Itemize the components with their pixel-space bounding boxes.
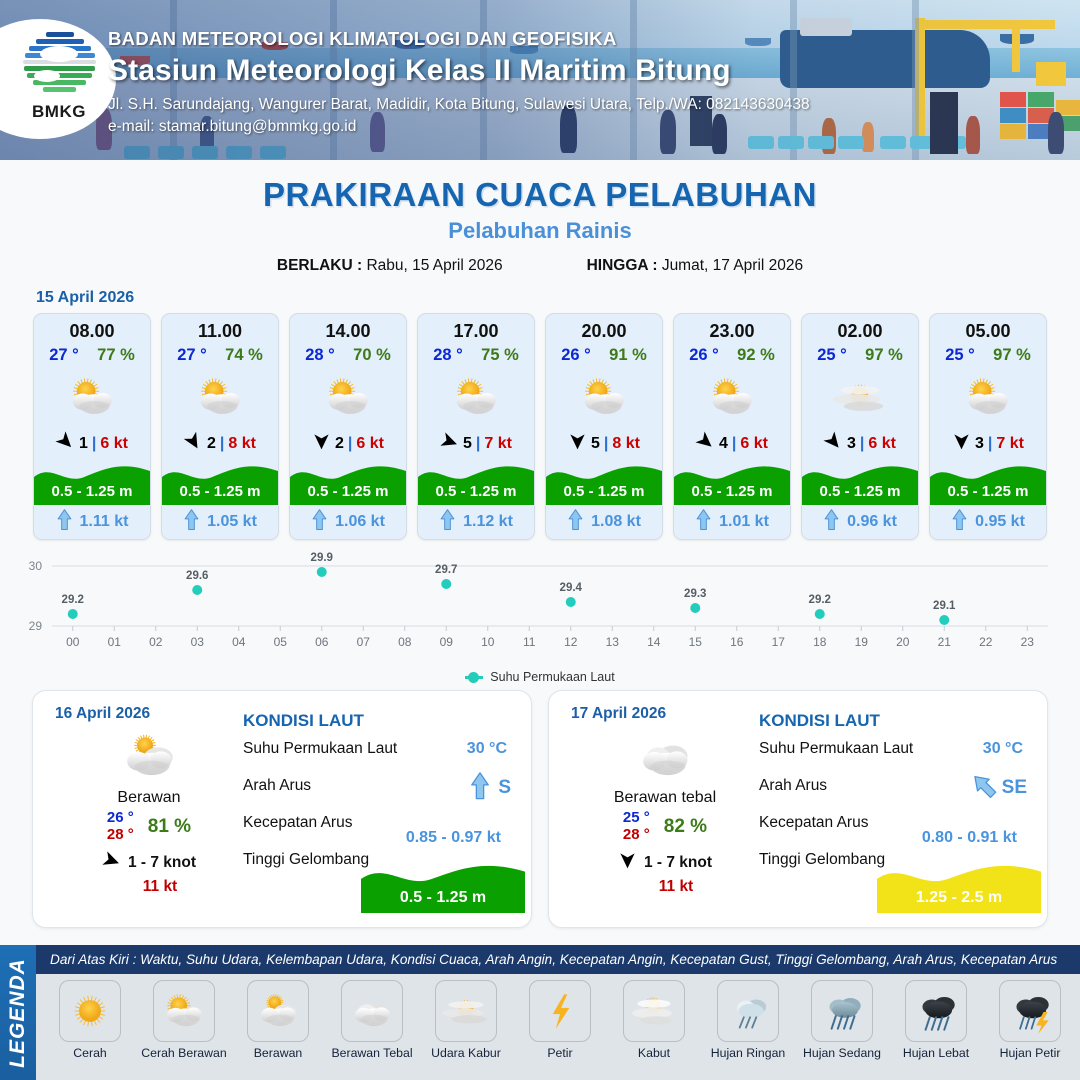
card-time: 02.00 — [802, 314, 918, 342]
card-time: 05.00 — [930, 314, 1046, 342]
sst-row: Suhu Permukaan Laut 30 °C — [759, 737, 1031, 774]
wave-height-value: 0.5 - 1.25 m — [34, 483, 150, 500]
card-temp-hum: 26 ° 91 % — [546, 342, 662, 365]
current-speed-value: 0.95 kt — [975, 513, 1025, 531]
wind-direction-value: 2 — [207, 435, 216, 453]
sst-value: 30 °C — [983, 740, 1023, 758]
weather-hujan-lebat-icon — [905, 980, 967, 1042]
card-humidity: 97 % — [993, 346, 1031, 365]
card-humidity: 77 % — [97, 346, 135, 365]
hourly-card: 23.00 26 ° 92 % 4 | — [673, 313, 791, 540]
day-gust: 11 kt — [571, 878, 759, 896]
weather-cerah-icon — [59, 980, 121, 1042]
wind-direction-value: 5 — [463, 435, 472, 453]
current-direction-value: S — [498, 777, 511, 799]
legend-item: Berawan Tebal — [326, 980, 418, 1060]
weather-cerah-berawan-icon — [674, 365, 790, 429]
sst-label: Suhu Permukaan Laut — [243, 740, 397, 758]
hourly-card: 20.00 26 ° 91 % 5 | — [545, 313, 663, 540]
bmkg-logo-icon — [20, 30, 98, 100]
current-speed-value: 0.85 - 0.97 kt — [406, 829, 501, 847]
card-wind: 2 | 8 kt — [162, 429, 278, 459]
day-wind-range: 1 - 7 knot — [644, 854, 712, 872]
svg-text:29.3: 29.3 — [684, 588, 706, 600]
svg-text:29.2: 29.2 — [809, 594, 831, 606]
agency-name: BADAN METEOROLOGI KLIMATOLOGI DAN GEOFIS… — [108, 28, 810, 50]
wave-height-value: 0.5 - 1.25 m — [418, 483, 534, 500]
svg-text:16: 16 — [730, 635, 744, 649]
wind-direction-arrow-icon — [102, 851, 121, 875]
weather-kabut-icon — [623, 980, 685, 1042]
legend-item: Hujan Lebat — [890, 980, 982, 1060]
card-wave: 0.5 - 1.25 m — [546, 459, 662, 505]
sst-label: Suhu Permukaan Laut — [759, 740, 913, 758]
current-direction-arrow-icon — [469, 772, 491, 805]
day-panel-right: KONDISI LAUT Suhu Permukaan Laut 30 °C A… — [243, 691, 531, 927]
day-wave-graphic: 1.25 - 2.5 m — [877, 857, 1041, 913]
svg-text:29.2: 29.2 — [62, 594, 84, 606]
day-panel-left: 17 April 2026 Berawan tebal 25 ° — [549, 691, 759, 927]
hourly-card: 11.00 27 ° 74 % 2 | — [161, 313, 279, 540]
weather-cerah-berawan-icon — [930, 365, 1046, 429]
card-humidity: 92 % — [737, 346, 775, 365]
current-direction-value-group: S — [469, 772, 511, 805]
card-current: 1.12 kt — [418, 505, 534, 539]
valid-from-value: Rabu, 15 April 2026 — [366, 257, 502, 274]
wind-direction-arrow-icon — [184, 432, 203, 456]
current-speed-value: 0.80 - 0.91 kt — [922, 829, 1017, 847]
card-current: 1.05 kt — [162, 505, 278, 539]
current-direction-arrow-icon — [823, 509, 840, 535]
wind-direction-value: 5 — [591, 435, 600, 453]
current-direction-value: SE — [1002, 777, 1027, 799]
wind-separator: | — [604, 435, 608, 453]
wave-height-value: 0.5 - 1.25 m — [674, 483, 790, 500]
svg-text:05: 05 — [274, 635, 288, 649]
valid-to-value: Jumat, 17 April 2026 — [662, 257, 803, 274]
wind-direction-arrow-icon — [440, 432, 459, 456]
current-speed-value: 1.12 kt — [463, 513, 513, 531]
svg-text:29.6: 29.6 — [186, 570, 208, 582]
legend-item-label: Petir — [514, 1046, 606, 1060]
current-speed-value: 1.06 kt — [335, 513, 385, 531]
svg-text:29.7: 29.7 — [435, 564, 457, 576]
weather-cerah-berawan-icon — [290, 365, 406, 429]
current-direction-arrow-icon — [311, 509, 328, 535]
card-temperature: 28 ° — [305, 346, 335, 365]
bmkg-logo: BMKG — [16, 30, 102, 126]
card-temp-hum: 25 ° 97 % — [802, 342, 918, 365]
weather-cerah-berawan-icon — [153, 980, 215, 1042]
weather-cerah-berawan-icon — [162, 365, 278, 429]
svg-text:19: 19 — [855, 635, 869, 649]
day-date: 17 April 2026 — [571, 705, 759, 723]
svg-text:21: 21 — [938, 635, 952, 649]
weather-cerah-berawan-icon — [546, 365, 662, 429]
valid-from: BERLAKU : Rabu, 15 April 2026 — [277, 257, 503, 275]
wind-separator: | — [860, 435, 864, 453]
legend-side-title-text: LEGENDA — [6, 958, 30, 1068]
svg-text:29.9: 29.9 — [311, 552, 333, 564]
header-text-block: BADAN METEOROLOGI KLIMATOLOGI DAN GEOFIS… — [108, 28, 810, 136]
day-humidity: 81 % — [148, 816, 191, 838]
day-forecast-panel: 17 April 2026 Berawan tebal 25 ° — [548, 690, 1048, 928]
current-direction-arrow-icon — [183, 509, 200, 535]
current-speed-label: Kecepatan Arus — [759, 814, 868, 832]
wind-direction-arrow-icon — [824, 432, 843, 456]
card-wave: 0.5 - 1.25 m — [418, 459, 534, 505]
legend-item: Hujan Ringan — [702, 980, 794, 1060]
wind-direction-value: 1 — [79, 435, 88, 453]
card-current: 0.95 kt — [930, 505, 1046, 539]
current-speed-value: 1.05 kt — [207, 513, 257, 531]
card-temp-hum: 26 ° 92 % — [674, 342, 790, 365]
card-wave: 0.5 - 1.25 m — [802, 459, 918, 505]
weather-hujan-ringan-icon — [717, 980, 779, 1042]
card-current: 0.96 kt — [802, 505, 918, 539]
hourly-forecast-cards: 08.00 27 ° 77 % 1 | — [0, 313, 1080, 540]
sea-conditions-title: KONDISI LAUT — [759, 711, 1031, 731]
station-email: e-mail: stamar.bitung@bmmkg.go.id — [108, 118, 810, 136]
card-temperature: 27 ° — [177, 346, 207, 365]
current-speed-value: 0.96 kt — [847, 513, 897, 531]
card-wind: 5 | 8 kt — [546, 429, 662, 459]
station-name: Stasiun Meteorologi Kelas II Maritim Bit… — [108, 54, 810, 88]
wind-speed-value: 6 kt — [100, 435, 128, 453]
svg-text:20: 20 — [896, 635, 910, 649]
current-direction-row: Arah Arus S — [243, 774, 515, 811]
chart-legend-line — [465, 676, 483, 679]
svg-text:09: 09 — [440, 635, 454, 649]
legend-item-label: Cerah Berawan — [138, 1046, 230, 1060]
wind-speed-value: 6 kt — [868, 435, 896, 453]
legend-item-label: Hujan Petir — [984, 1046, 1076, 1060]
card-wind: 2 | 6 kt — [290, 429, 406, 459]
card-temp-hum: 27 ° 74 % — [162, 342, 278, 365]
legend-item-label: Berawan — [232, 1046, 324, 1060]
current-speed-row: Kecepatan Arus 0.85 - 0.97 kt — [243, 811, 515, 848]
day-panel-left: 16 April 2026 Berawan 26 ° — [33, 691, 243, 927]
day-condition: Berawan tebal — [571, 789, 759, 807]
valid-to: HINGGA : Jumat, 17 April 2026 — [587, 257, 804, 275]
wind-separator: | — [476, 435, 480, 453]
day-temp-min: 26 ° — [107, 810, 134, 827]
day-wave-graphic: 0.5 - 1.25 m — [361, 857, 525, 913]
hourly-card: 14.00 28 ° 70 % 2 | — [289, 313, 407, 540]
wind-direction-arrow-icon — [618, 851, 637, 875]
sst-chart-svg: 2930000102030405060708091011121314151617… — [0, 548, 1080, 660]
card-wind: 1 | 6 kt — [34, 429, 150, 459]
legend-item-label: Udara Kabur — [420, 1046, 512, 1060]
card-temperature: 28 ° — [433, 346, 463, 365]
legend-item-label: Berawan Tebal — [326, 1046, 418, 1060]
card-time: 17.00 — [418, 314, 534, 342]
day-humidity: 82 % — [664, 816, 707, 838]
current-direction-arrow-icon — [951, 509, 968, 535]
current-speed-value: 1.01 kt — [719, 513, 769, 531]
hourly-card: 05.00 25 ° 97 % 3 | — [929, 313, 1047, 540]
svg-text:08: 08 — [398, 635, 412, 649]
card-wind: 3 | 7 kt — [930, 429, 1046, 459]
wind-direction-value: 3 — [975, 435, 984, 453]
weather-cerah-berawan-icon — [418, 365, 534, 429]
card-current: 1.01 kt — [674, 505, 790, 539]
svg-text:14: 14 — [647, 635, 661, 649]
day-temperatures: 25 ° 28 ° 82 % — [571, 810, 759, 844]
wave-height-value: 0.5 - 1.25 m — [290, 483, 406, 500]
wave-height-value: 0.5 - 1.25 m — [162, 483, 278, 500]
weather-berawan-tebal-icon — [341, 980, 403, 1042]
current-direction-label: Arah Arus — [243, 777, 311, 795]
legend-item-label: Hujan Ringan — [702, 1046, 794, 1060]
wind-separator: | — [988, 435, 992, 453]
current-speed-value: 1.08 kt — [591, 513, 641, 531]
wind-separator: | — [220, 435, 224, 453]
current-speed-row: Kecepatan Arus 0.80 - 0.91 kt — [759, 811, 1031, 848]
card-time: 08.00 — [34, 314, 150, 342]
svg-text:17: 17 — [772, 635, 786, 649]
day-wind: 1 - 7 knot — [571, 851, 759, 875]
legend-side-title: LEGENDA — [0, 945, 36, 1080]
wind-separator: | — [92, 435, 96, 453]
day-condition: Berawan — [55, 789, 243, 807]
hourly-card: 08.00 27 ° 77 % 1 | — [33, 313, 151, 540]
svg-text:13: 13 — [606, 635, 620, 649]
legend-item-label: Hujan Lebat — [890, 1046, 982, 1060]
sst-chart: 2930000102030405060708091011121314151617… — [0, 548, 1080, 676]
page-title: PRAKIRAAN CUACA PELABUHAN — [0, 176, 1080, 214]
legend-item-label: Hujan Sedang — [796, 1046, 888, 1060]
day-temp-min: 25 ° — [623, 810, 650, 827]
svg-text:15: 15 — [689, 635, 703, 649]
weather-berawan-icon — [55, 725, 243, 787]
svg-text:30: 30 — [29, 559, 43, 573]
svg-text:12: 12 — [564, 635, 578, 649]
legend-bar: LEGENDA Dari Atas Kiri : Waktu, Suhu Uda… — [0, 945, 1080, 1080]
card-temperature: 27 ° — [49, 346, 79, 365]
legend-icon-list: Cerah Cerah Berawan — [36, 974, 1080, 1060]
current-direction-value-group: SE — [973, 772, 1027, 805]
wave-height-value: 0.5 - 1.25 m — [802, 483, 918, 500]
station-address: Jl. S.H. Sarundajang, Wangurer Barat, Ma… — [108, 96, 810, 114]
legend-item: Cerah — [44, 980, 136, 1060]
card-wave: 0.5 - 1.25 m — [674, 459, 790, 505]
day-forecast-panel: 16 April 2026 Berawan 26 ° — [32, 690, 532, 928]
card-temp-hum: 25 ° 97 % — [930, 342, 1046, 365]
hourly-card: 02.00 25 ° 97 % 3 | — [801, 313, 919, 540]
wind-speed-value: 7 kt — [484, 435, 512, 453]
validity-row: BERLAKU : Rabu, 15 April 2026 HINGGA : J… — [0, 257, 1080, 275]
card-temperature: 26 ° — [689, 346, 719, 365]
card-wind: 4 | 6 kt — [674, 429, 790, 459]
card-wave: 0.5 - 1.25 m — [290, 459, 406, 505]
wind-speed-value: 8 kt — [228, 435, 256, 453]
card-wave: 0.5 - 1.25 m — [930, 459, 1046, 505]
wind-direction-value: 3 — [847, 435, 856, 453]
sst-row: Suhu Permukaan Laut 30 °C — [243, 737, 515, 774]
svg-text:29.1: 29.1 — [933, 600, 956, 612]
wind-direction-value: 4 — [719, 435, 728, 453]
current-speed-label: Kecepatan Arus — [243, 814, 352, 832]
wind-separator: | — [348, 435, 352, 453]
hourly-date-label: 15 April 2026 — [36, 289, 1080, 307]
svg-text:29: 29 — [29, 619, 43, 633]
svg-text:22: 22 — [979, 635, 993, 649]
svg-text:23: 23 — [1021, 635, 1035, 649]
hourly-card: 17.00 28 ° 75 % 5 | — [417, 313, 535, 540]
card-humidity: 91 % — [609, 346, 647, 365]
day-gust: 11 kt — [55, 878, 243, 896]
bmkg-logo-text: BMKG — [16, 102, 102, 122]
day-wind: 1 - 7 knot — [55, 851, 243, 875]
card-temperature: 25 ° — [817, 346, 847, 365]
current-direction-arrow-icon — [567, 509, 584, 535]
card-wind: 3 | 6 kt — [802, 429, 918, 459]
wind-direction-arrow-icon — [952, 432, 971, 456]
wind-separator: | — [732, 435, 736, 453]
card-temp-hum: 27 ° 77 % — [34, 342, 150, 365]
weather-berawan-icon — [247, 980, 309, 1042]
wind-direction-arrow-icon — [568, 432, 587, 456]
legend-item: Cerah Berawan — [138, 980, 230, 1060]
card-current: 1.06 kt — [290, 505, 406, 539]
card-humidity: 70 % — [353, 346, 391, 365]
wind-direction-arrow-icon — [56, 432, 75, 456]
card-wind: 5 | 7 kt — [418, 429, 534, 459]
card-time: 20.00 — [546, 314, 662, 342]
weather-udara-kabur-icon — [435, 980, 497, 1042]
wave-height-value: 0.5 - 1.25 m — [930, 483, 1046, 500]
svg-text:29.4: 29.4 — [560, 582, 583, 594]
card-time: 23.00 — [674, 314, 790, 342]
wind-speed-value: 6 kt — [740, 435, 768, 453]
legend-item: Kabut — [608, 980, 700, 1060]
legend-item: Hujan Petir — [984, 980, 1076, 1060]
legend-item: Petir — [514, 980, 606, 1060]
current-direction-arrow-icon — [695, 509, 712, 535]
svg-text:06: 06 — [315, 635, 329, 649]
card-humidity: 74 % — [225, 346, 263, 365]
wind-direction-value: 2 — [335, 435, 344, 453]
svg-text:04: 04 — [232, 635, 246, 649]
day-wave-value: 0.5 - 1.25 m — [361, 889, 525, 907]
wind-direction-arrow-icon — [696, 432, 715, 456]
card-temp-hum: 28 ° 70 % — [290, 342, 406, 365]
svg-text:07: 07 — [357, 635, 371, 649]
wave-height-value: 0.5 - 1.25 m — [546, 483, 662, 500]
svg-text:10: 10 — [481, 635, 495, 649]
card-humidity: 75 % — [481, 346, 519, 365]
sst-value: 30 °C — [467, 740, 507, 758]
current-direction-arrow-icon — [973, 772, 995, 805]
current-direction-arrow-icon — [439, 509, 456, 535]
svg-text:03: 03 — [191, 635, 205, 649]
legend-item: Berawan — [232, 980, 324, 1060]
card-current: 1.08 kt — [546, 505, 662, 539]
svg-text:00: 00 — [66, 635, 80, 649]
day-temperatures: 26 ° 28 ° 81 % — [55, 810, 243, 844]
day-wave-value: 1.25 - 2.5 m — [877, 889, 1041, 907]
weather-berawan-tebal-icon — [571, 725, 759, 787]
card-humidity: 97 % — [865, 346, 903, 365]
sea-conditions-title: KONDISI LAUT — [243, 711, 515, 731]
day-date: 16 April 2026 — [55, 705, 243, 723]
legend-item-label: Kabut — [608, 1046, 700, 1060]
weather-petir-icon — [529, 980, 591, 1042]
svg-text:11: 11 — [523, 635, 536, 649]
day-temp-max: 28 ° — [107, 827, 134, 844]
card-temperature: 26 ° — [561, 346, 591, 365]
weather-udara-kabur-icon — [802, 365, 918, 429]
wave-label: Tinggi Gelombang — [243, 851, 369, 869]
wave-label: Tinggi Gelombang — [759, 851, 885, 869]
card-temp-hum: 28 ° 75 % — [418, 342, 534, 365]
day-wind-range: 1 - 7 knot — [128, 854, 196, 872]
page-subtitle: Pelabuhan Rainis — [0, 218, 1080, 244]
valid-from-label: BERLAKU : — [277, 257, 362, 274]
card-current: 1.11 kt — [34, 505, 150, 539]
card-time: 11.00 — [162, 314, 278, 342]
legend-content: Dari Atas Kiri : Waktu, Suhu Udara, Kele… — [36, 945, 1080, 1080]
day-panel-right: KONDISI LAUT Suhu Permukaan Laut 30 °C A… — [759, 691, 1047, 927]
legend-caption: Dari Atas Kiri : Waktu, Suhu Udara, Kele… — [36, 945, 1080, 974]
current-direction-row: Arah Arus SE — [759, 774, 1031, 811]
current-direction-arrow-icon — [56, 509, 73, 535]
valid-to-label: HINGGA : — [587, 257, 658, 274]
weather-hujan-sedang-icon — [811, 980, 873, 1042]
legend-item: Udara Kabur — [420, 980, 512, 1060]
weather-hujan-petir-icon — [999, 980, 1061, 1042]
current-direction-label: Arah Arus — [759, 777, 827, 795]
card-time: 14.00 — [290, 314, 406, 342]
daily-forecast-panels: 16 April 2026 Berawan 26 ° — [0, 684, 1080, 928]
wind-speed-value: 8 kt — [612, 435, 640, 453]
page-header: BMKG BADAN METEOROLOGI KLIMATOLOGI DAN G… — [0, 0, 1080, 160]
svg-text:02: 02 — [149, 635, 163, 649]
legend-item: Hujan Sedang — [796, 980, 888, 1060]
legend-item-label: Cerah — [44, 1046, 136, 1060]
card-wave: 0.5 - 1.25 m — [34, 459, 150, 505]
wind-speed-value: 7 kt — [996, 435, 1024, 453]
weather-cerah-berawan-icon — [34, 365, 150, 429]
card-temperature: 25 ° — [945, 346, 975, 365]
wind-direction-arrow-icon — [312, 432, 331, 456]
wind-speed-value: 6 kt — [356, 435, 384, 453]
current-speed-value: 1.11 kt — [80, 513, 129, 531]
card-wave: 0.5 - 1.25 m — [162, 459, 278, 505]
day-temp-max: 28 ° — [623, 827, 650, 844]
svg-text:18: 18 — [813, 635, 827, 649]
svg-text:01: 01 — [108, 635, 122, 649]
